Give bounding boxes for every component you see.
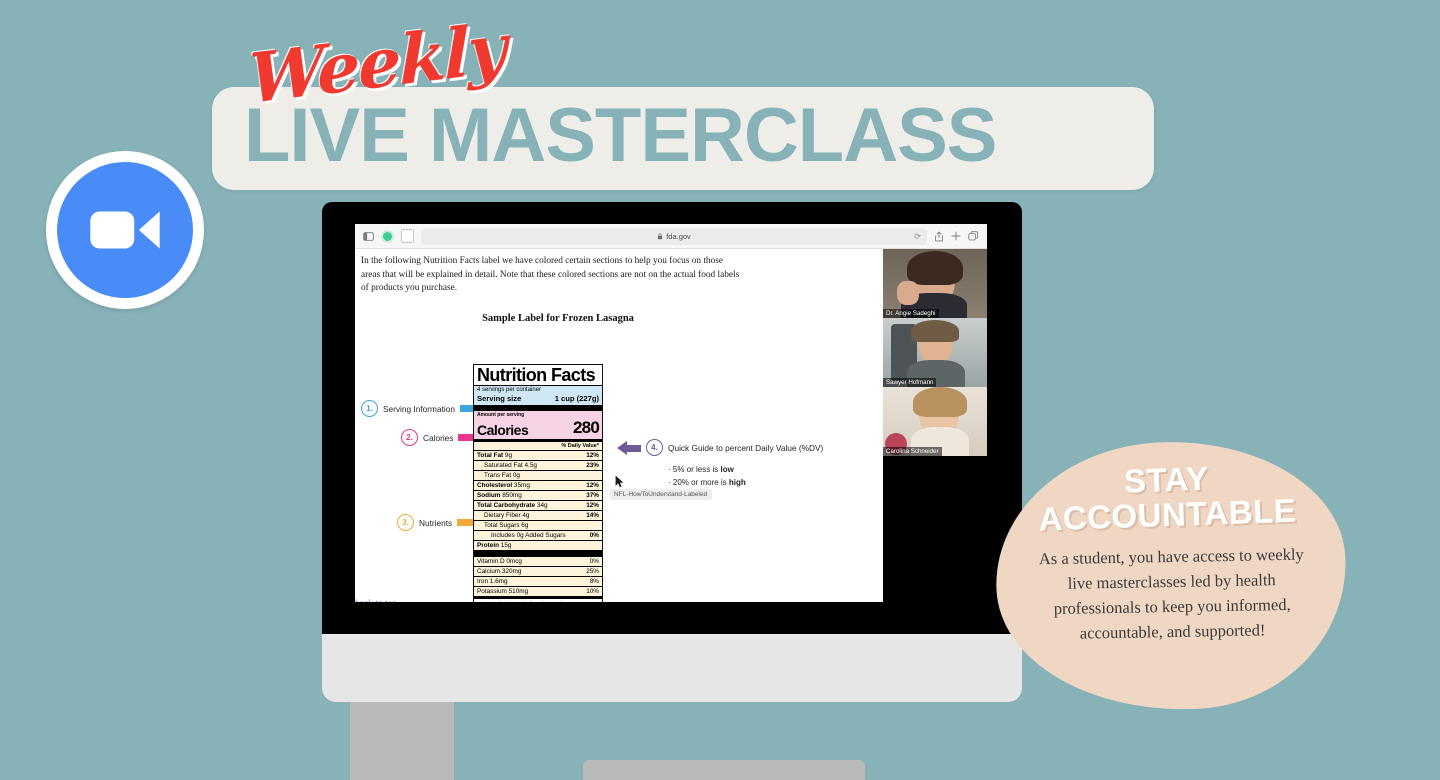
vitamin-name: Iron 1.6mg <box>477 578 508 585</box>
monitor-stand-base <box>583 760 865 780</box>
sidebar-icon[interactable] <box>363 231 374 242</box>
nutrient-name: Saturated Fat 4.5g <box>484 462 537 469</box>
calories-section: Amount per serving Calories 280 <box>474 411 602 439</box>
nutrient-daily-value: 12% <box>586 452 599 459</box>
vitamins-section: Vitamin D 0mcg0%Calcium 320mg25%Iron 1.6… <box>474 556 602 596</box>
vitamin-daily-value: 25% <box>586 568 599 575</box>
calories-row: Calories 280 <box>477 418 599 438</box>
nutrient-row: Saturated Fat 4.5g23% <box>474 460 602 470</box>
calories-value: 280 <box>573 418 599 438</box>
monitor-screen: fda.gov ⟳ In the following Nutrition Fac… <box>355 224 987 602</box>
nutrient-daily-value: 14% <box>586 512 599 519</box>
monitor-bezel: fda.gov ⟳ In the following Nutrition Fac… <box>322 202 1022 634</box>
callout-4-bullet-2: · 20% or more is high <box>668 476 823 489</box>
nutrient-daily-value: 37% <box>586 492 599 499</box>
back-to-top-link[interactable]: back to top <box>355 599 397 602</box>
callout-nutrients: 3. Nutrients <box>397 514 483 531</box>
participant-name: Sawyer Hofmann <box>883 378 936 387</box>
image-tooltip: NFL-HowToUnderstand-Labeled <box>609 489 712 500</box>
nutrient-daily-value: 12% <box>586 482 599 489</box>
vitamin-name: Vitamin D 0mcg <box>477 558 522 565</box>
callout-2-label: Calories <box>423 433 453 443</box>
url-text: fda.gov <box>666 232 691 241</box>
nutrient-name: Total Fat 9g <box>477 452 512 459</box>
nutrients-section: Total Fat 9g12%Saturated Fat 4.5g23%Tran… <box>474 450 602 550</box>
tab-favicon-document[interactable] <box>401 229 414 243</box>
lock-icon <box>657 233 663 240</box>
stay-accountable-badge: STAY ACCOUNTABLE As a student, you have … <box>989 433 1353 719</box>
address-bar[interactable]: fda.gov ⟳ <box>421 228 927 245</box>
serving-size-value: 1 cup (227g) <box>555 394 599 403</box>
web-page-content: In the following Nutrition Facts label w… <box>355 249 987 602</box>
blob-title: STAY ACCOUNTABLE <box>1037 458 1297 537</box>
vitamin-row: Iron 1.6mg8% <box>474 576 602 586</box>
callout-calories: 2. Calories <box>401 429 484 446</box>
nutrient-row: Protein 15g <box>474 540 602 550</box>
nutrient-daily-value: 12% <box>586 502 599 509</box>
callout-4-number: 4. <box>646 439 663 456</box>
vitamin-row: Potassium 510mg10% <box>474 586 602 596</box>
blob-body-text: As a student, you have access to weekly … <box>1030 542 1314 647</box>
callout-4-label: Quick Guide to percent Daily Value (%DV) <box>668 443 823 453</box>
participant-tile[interactable]: Carolina Schneider <box>883 387 987 456</box>
callout-3-label: Nutrients <box>419 518 452 528</box>
vitamin-row: Vitamin D 0mcg0% <box>474 556 602 566</box>
vitamin-daily-value: 8% <box>590 578 599 585</box>
callout-4-bullets: · 5% or less is low · 20% or more is hig… <box>668 463 823 489</box>
reload-icon[interactable]: ⟳ <box>914 232 921 241</box>
nutrient-daily-value: 23% <box>586 462 599 469</box>
blob-title-line-2: ACCOUNTABLE <box>1038 493 1297 537</box>
serving-size-label: Serving size <box>477 394 521 403</box>
share-icon[interactable] <box>934 231 944 242</box>
plus-icon[interactable] <box>951 231 961 241</box>
vitamin-daily-value: 10% <box>586 588 599 595</box>
nutrition-facts-label: Nutrition Facts 4 servings per container… <box>473 364 603 602</box>
participant-tile[interactable]: Dr. Angie Sadeghi <box>883 249 987 318</box>
video-camera-icon <box>88 193 162 267</box>
nutrient-name: Total Carbohydrate 34g <box>477 502 548 509</box>
servings-per-container: 4 servings per container <box>477 387 599 393</box>
intro-paragraph: In the following Nutrition Facts label w… <box>361 255 743 296</box>
vitamin-row: Calcium 320mg25% <box>474 566 602 576</box>
callout-3-number: 3. <box>397 514 414 531</box>
participant-name: Carolina Schneider <box>883 447 942 456</box>
nutrient-row: Total Sugars 6g <box>474 520 602 530</box>
mouse-cursor-icon <box>615 475 624 488</box>
participant-tile[interactable]: Sawyer Hofmann <box>883 318 987 387</box>
nutrient-row: Cholesterol 35mg12% <box>474 480 602 490</box>
callout-1-label: Serving Information <box>383 404 455 414</box>
participant-name: Dr. Angie Sadeghi <box>883 309 939 318</box>
zoom-app-badge <box>46 151 204 309</box>
video-participants-panel: Dr. Angie Sadeghi Sawyer Hofmann <box>883 249 987 602</box>
callout-serving-information: 1. Serving Information <box>361 400 488 417</box>
nutrient-row: Trans Fat 0g <box>474 470 602 480</box>
article-column: In the following Nutrition Facts label w… <box>355 249 883 602</box>
zoom-badge-circle <box>57 162 193 298</box>
nutrient-row: Total Fat 9g12% <box>474 450 602 460</box>
nutrient-name: Protein 15g <box>477 542 511 549</box>
tabs-overview-icon[interactable] <box>968 231 979 242</box>
nutrient-row: Total Carbohydrate 34g12% <box>474 500 602 510</box>
callout-quick-guide: 4. Quick Guide to percent Daily Value (%… <box>617 438 823 489</box>
nutrient-row: Includes 0g Added Sugars0% <box>474 530 602 540</box>
browser-toolbar: fda.gov ⟳ <box>355 224 987 249</box>
nutrient-name: Total Sugars 6g <box>484 522 528 529</box>
nutrient-row: Sodium 850mg37% <box>474 490 602 500</box>
vitamin-daily-value: 0% <box>590 558 599 565</box>
monitor-stand-neck <box>350 702 454 780</box>
nutrient-name: Sodium 850mg <box>477 492 522 499</box>
calories-label: Calories <box>477 422 528 438</box>
nutrient-name: Includes 0g Added Sugars <box>491 532 566 539</box>
callout-1-number: 1. <box>361 400 378 417</box>
nutrient-daily-value: 0% <box>590 532 599 539</box>
green-circle-favicon[interactable] <box>381 230 394 243</box>
nutrient-name: Trans Fat 0g <box>484 472 520 479</box>
callout-4-arrow <box>617 441 641 455</box>
monitor-chin <box>322 634 1022 702</box>
vitamin-name: Potassium 510mg <box>477 588 528 595</box>
vitamin-name: Calcium 320mg <box>477 568 521 575</box>
nutrient-name: Dietary Fiber 4g <box>484 512 529 519</box>
nutrient-row: Dietary Fiber 4g14% <box>474 510 602 520</box>
daily-value-header: % Daily Value* <box>474 442 602 450</box>
serving-information-section: 4 servings per container Serving size 1 … <box>474 386 602 405</box>
daily-value-footnote: * The % Daily Value (DV) tells you how m… <box>474 596 602 603</box>
nutrient-name: Cholesterol 35mg <box>477 482 530 489</box>
callout-4-body: Quick Guide to percent Daily Value (%DV)… <box>668 438 823 489</box>
serving-size-row: Serving size 1 cup (227g) <box>477 394 599 403</box>
sample-label-heading: Sample Label for Frozen Lasagna <box>361 313 755 324</box>
nutrition-facts-title: Nutrition Facts <box>474 365 602 385</box>
callout-4-bullet-1: · 5% or less is low <box>668 463 823 476</box>
callout-2-number: 2. <box>401 429 418 446</box>
desktop-monitor: fda.gov ⟳ In the following Nutrition Fac… <box>322 202 1022 702</box>
